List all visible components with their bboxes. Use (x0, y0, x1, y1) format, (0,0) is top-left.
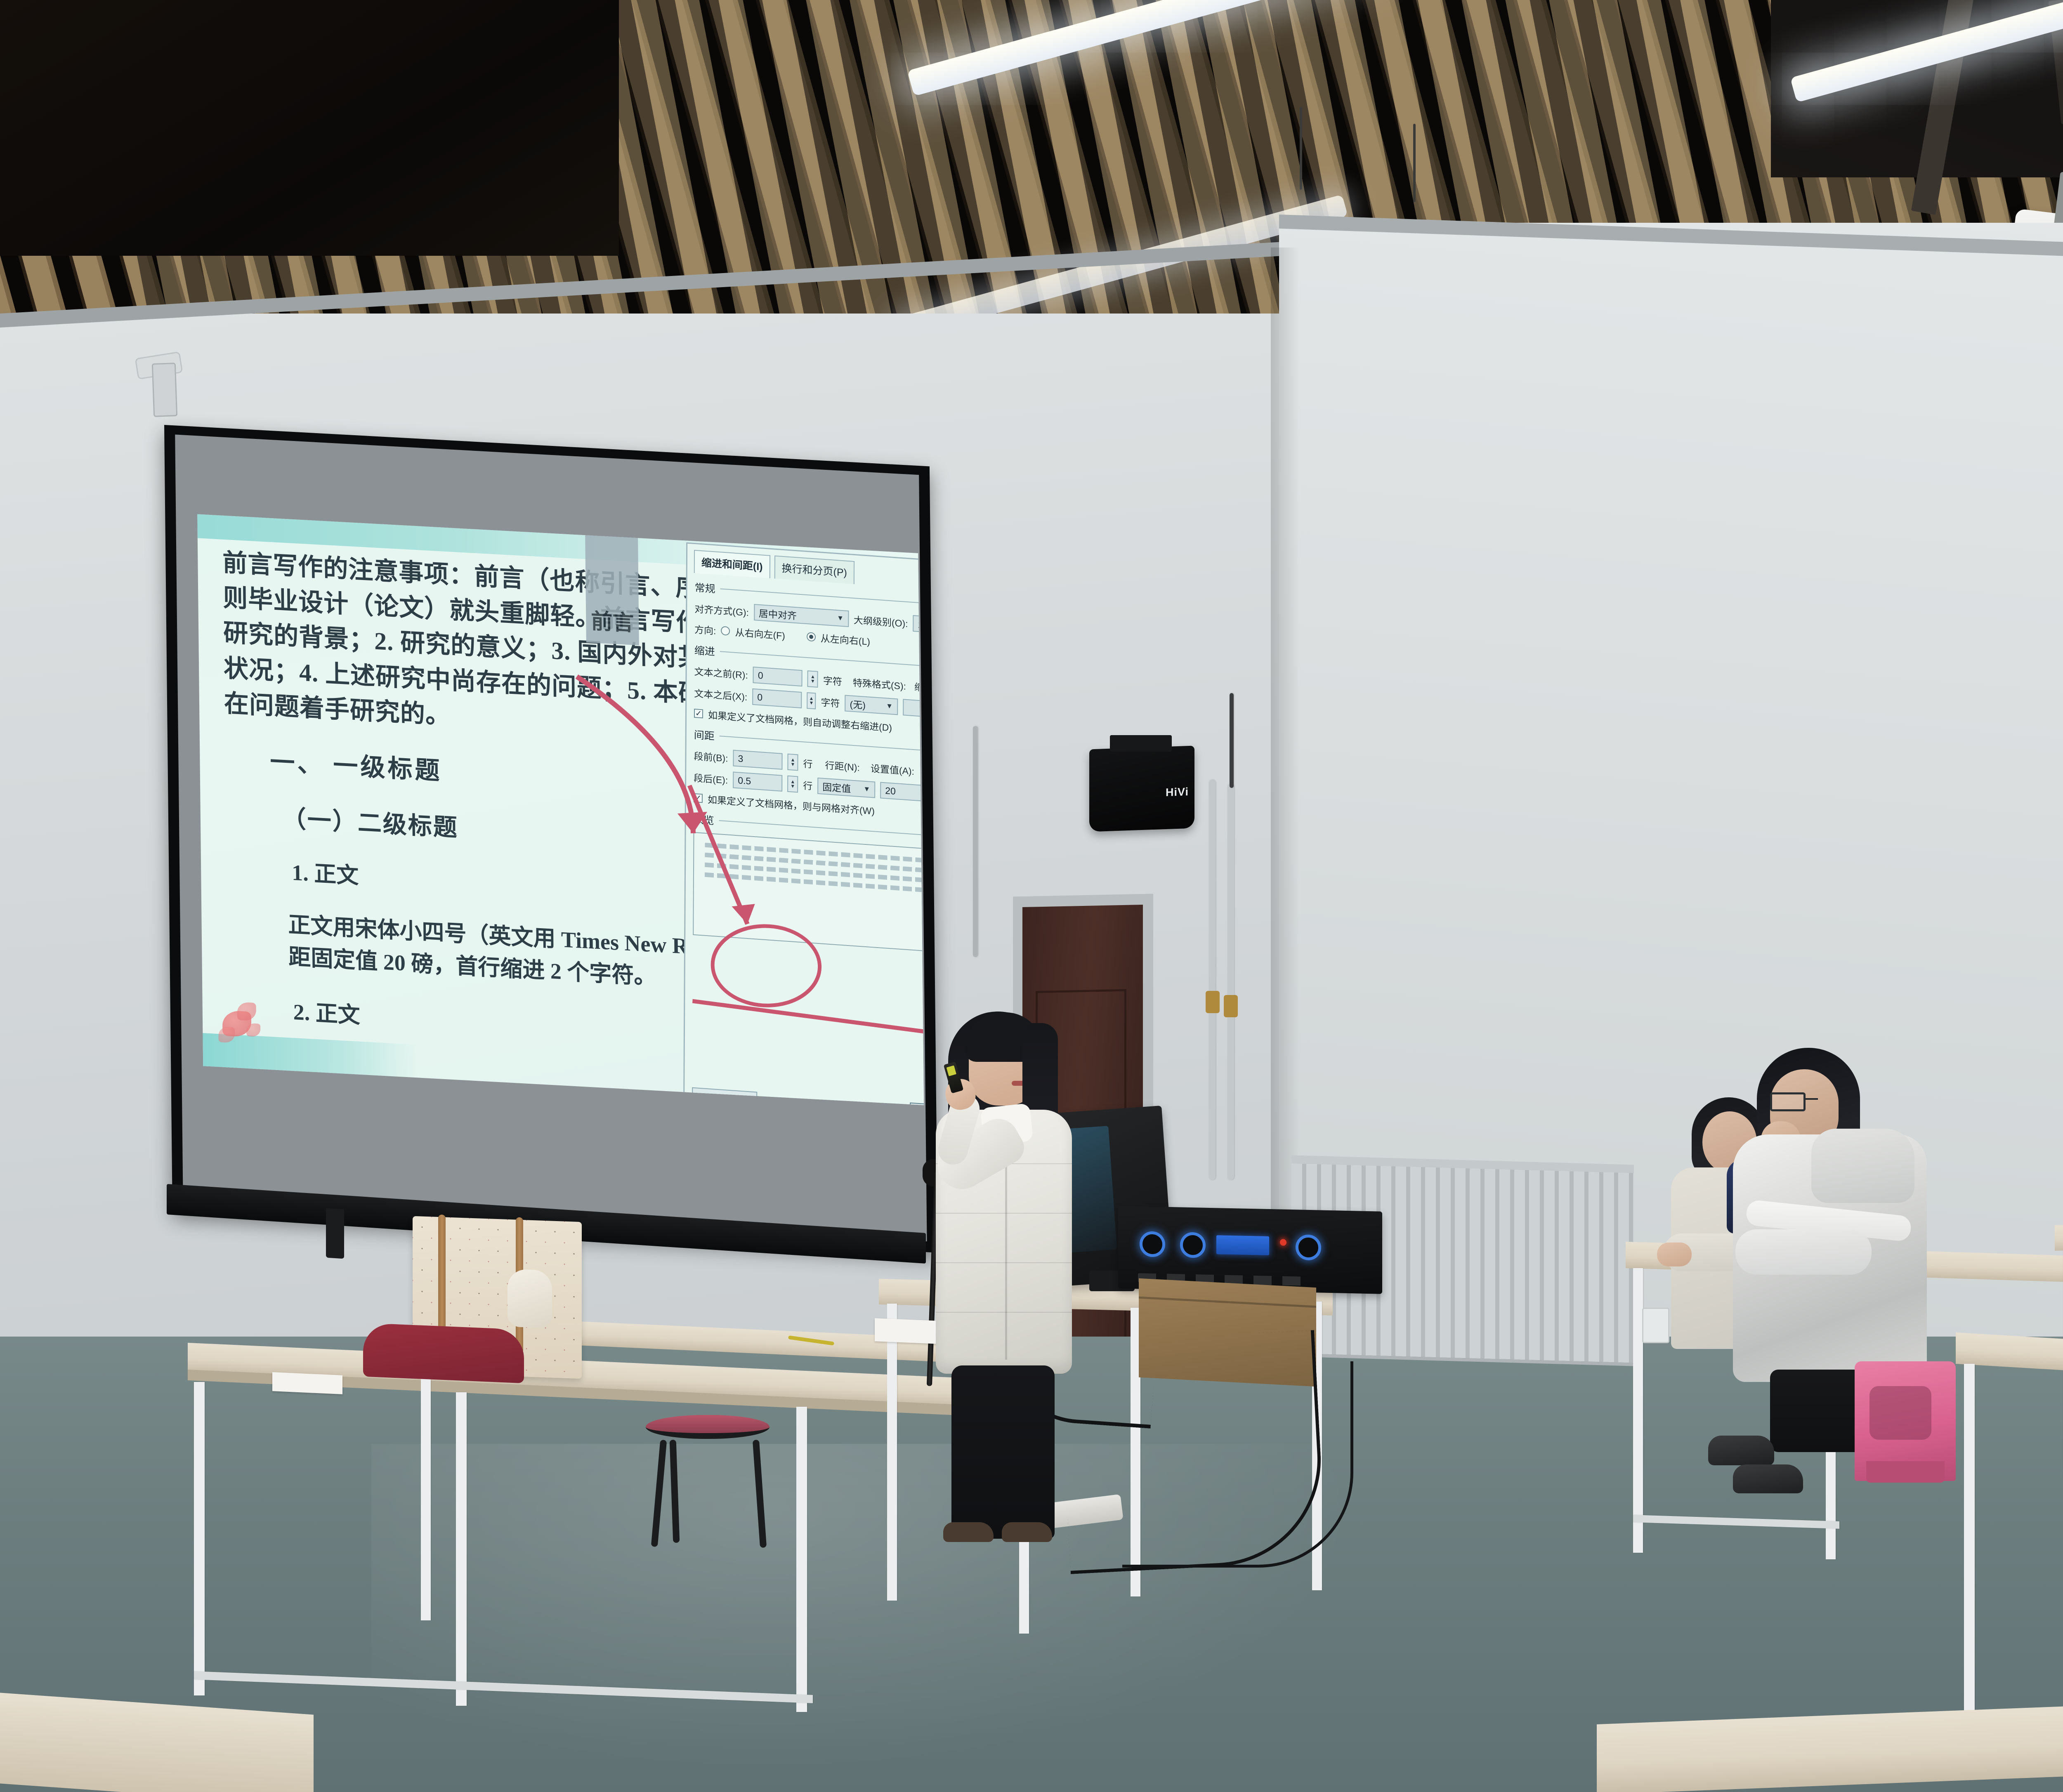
special-format-select[interactable]: (无) ▼ (845, 695, 898, 715)
wall-speaker-brand: HiVi (1166, 785, 1189, 799)
amp-knob-mid[interactable] (1180, 1232, 1206, 1258)
radio-rtl[interactable] (721, 626, 730, 636)
student-a-hood (1811, 1129, 1914, 1203)
indent-after-stepper[interactable]: ▲▼ (807, 692, 816, 710)
direction-label: 方向: (694, 622, 716, 637)
pink-stool[interactable] (1855, 1361, 1956, 1481)
ltr-label: 从左向右(L) (821, 630, 870, 648)
desk-leg (1633, 1268, 1643, 1553)
space-after-input[interactable]: 0.5 (733, 771, 782, 791)
desk-leg (796, 1407, 807, 1712)
presenter (912, 1007, 1085, 1543)
spacing-at-input[interactable]: 20 (880, 782, 924, 802)
space-before-label: 段前(B): (694, 748, 728, 765)
amp-power-led (1280, 1239, 1286, 1246)
chevron-down-icon: ▼ (863, 785, 870, 794)
checkbox-auto-adjust-indent[interactable]: ✓ (694, 709, 703, 719)
projected-slide: 前言写作的注意事项：前言（也称引言、序等）不宜过长，否则毕业设计（论文）就头重脚… (197, 514, 924, 1105)
space-before-input[interactable]: 3 (733, 750, 782, 770)
checkbox-snap-to-grid[interactable]: ✓ (694, 793, 703, 803)
paper-sheet (272, 1372, 342, 1394)
black-stool-seat (646, 1415, 769, 1439)
space-after-label: 段后(E): (694, 770, 728, 787)
indent-before-label: 文本之前(R): (694, 664, 748, 681)
indent-before-value: 0 (758, 670, 763, 681)
desk-leg (194, 1382, 205, 1695)
desk-leg (456, 1392, 467, 1706)
alignment-value: 居中对齐 (759, 606, 797, 622)
spacing-at-value: 20 (885, 785, 896, 797)
student-a-arm (1735, 1229, 1872, 1275)
tote-bag-bear-charm (507, 1269, 552, 1328)
line-spacing-value: 固定值 (822, 779, 851, 795)
space-before-unit: 行 (803, 756, 812, 771)
student-b-hand (1657, 1243, 1692, 1266)
red-clutch-bag (363, 1323, 524, 1383)
paragraph-preview-pane (693, 832, 924, 956)
screen-pull-tab[interactable] (326, 1208, 344, 1259)
desk-leg (887, 1304, 897, 1601)
projection-screen: 前言写作的注意事项：前言（也称引言、序等）不宜过长，否则毕业设计（论文）就头重脚… (164, 425, 938, 1253)
wall-speaker-bracket (1110, 735, 1172, 752)
line-spacing-label: 行距(N): (825, 757, 860, 774)
space-after-stepper[interactable]: ▲▼ (787, 776, 798, 793)
presenter-shoe-left (943, 1522, 994, 1542)
special-format-label: 特殊格式(S): (853, 675, 906, 693)
indent-before-stepper[interactable]: ▲▼ (807, 670, 818, 688)
special-format-value: (无) (850, 696, 866, 712)
wall-conduit (973, 726, 978, 957)
slide-qianyan-chip: 前言 (585, 530, 639, 645)
heating-pipe-2 (1227, 784, 1234, 1180)
annotation-underline (692, 1001, 924, 1038)
glasses-bridge (1806, 1098, 1818, 1100)
black-stool-leg (651, 1440, 667, 1547)
screen-surface: 前言写作的注意事项：前言（也称引言、序等）不宜过长，否则毕业设计（论文）就头重脚… (175, 434, 927, 1241)
classroom-photo: HiVi 前言写作的注意事项：前言（也称引言、序等）不宜过长，否则毕业设计（论文… (0, 0, 2063, 1792)
alignment-select[interactable]: 居中对齐 ▼ (754, 604, 849, 627)
black-stool-leg (753, 1440, 767, 1548)
black-stool-leg (670, 1440, 680, 1543)
play-circle-icon: ▶ (765, 1099, 774, 1105)
chevron-down-icon: ▼ (886, 702, 893, 710)
radio-ltr[interactable] (807, 632, 816, 642)
operation-tips-label: 操作技巧 (778, 1098, 816, 1105)
rtl-label: 从右向左(F) (735, 625, 785, 642)
indent-after-unit: 字符 (821, 694, 840, 710)
pipe-valve-2 (1224, 995, 1238, 1017)
cable-run-floor-2 (1122, 1361, 1353, 1568)
indent-by-input[interactable] (903, 699, 924, 719)
spacing-at-label: 设置值(A): (871, 761, 914, 778)
student-a-shoe-2 (1733, 1464, 1803, 1493)
line-spacing-select[interactable]: 固定值 ▼ (817, 778, 875, 798)
chevron-down-icon: ▼ (837, 614, 844, 622)
tab-stops-button[interactable]: 制表位(T)... (692, 1087, 757, 1105)
ceiling-dark-area (0, 0, 619, 256)
heating-pipe-1 (1209, 780, 1216, 1180)
black-stool[interactable] (646, 1415, 776, 1547)
tab-line-page-breaks[interactable]: 换行和分页(P) (774, 556, 854, 585)
operation-tips-link[interactable]: ▶ 操作技巧 (765, 1097, 816, 1105)
student-a-shoe (1708, 1436, 1774, 1465)
wall-speaker: HiVi (1089, 746, 1194, 832)
outline-level-label: 大纲级别(O): (854, 612, 908, 630)
indent-after-label: 文本之后(X): (694, 686, 747, 703)
amp-display (1216, 1235, 1269, 1255)
dialog-button-bar: 制表位(T)... ▶ 操作技巧 确定 取消 (692, 1087, 924, 1105)
indent-before-unit: 字符 (823, 673, 842, 688)
presenter-legs (951, 1365, 1055, 1539)
pipe-valve-1 (1206, 991, 1220, 1013)
screen-mount-bracket (152, 363, 178, 417)
indent-before-input[interactable]: 0 (753, 667, 803, 686)
ceiling-hanger-wire (1300, 107, 1302, 190)
glasses-left-lens (1770, 1092, 1806, 1111)
presenter-shoe-right (1002, 1522, 1052, 1542)
wall-conduit-2 (1230, 693, 1234, 788)
slide-qianyan-label: 前言 (591, 604, 634, 637)
amp-knob-right[interactable] (1296, 1234, 1321, 1260)
alignment-label: 对齐方式(G): (694, 601, 749, 619)
space-after-unit: 行 (803, 778, 812, 792)
section-spacing: 间距 段前(B): 3 ▲▼ 行 行距(N): 设置值(A): (694, 727, 924, 825)
desk-leg (1964, 1364, 1975, 1710)
ceiling-hanger-wire-2 (1413, 124, 1416, 202)
section-indent: 缩进 文本之前(R): 0 ▲▼ 字符 特殊格式(S): 缩进值(Y): (694, 642, 924, 741)
space-before-value: 3 (738, 753, 743, 764)
indent-after-input[interactable]: 0 (752, 689, 802, 708)
space-after-value: 0.5 (738, 775, 751, 787)
space-before-stepper[interactable]: ▲▼ (787, 754, 798, 771)
amp-knob-left[interactable] (1140, 1231, 1165, 1257)
indent-after-value: 0 (757, 691, 762, 703)
tab-indent-spacing[interactable]: 缩进和间距(I) (694, 550, 770, 578)
word-paragraph-dialog[interactable]: 缩进和间距(I) 换行和分页(P) 常规 对齐方式(G): 居中对齐 ▼ 大 (683, 542, 924, 1105)
